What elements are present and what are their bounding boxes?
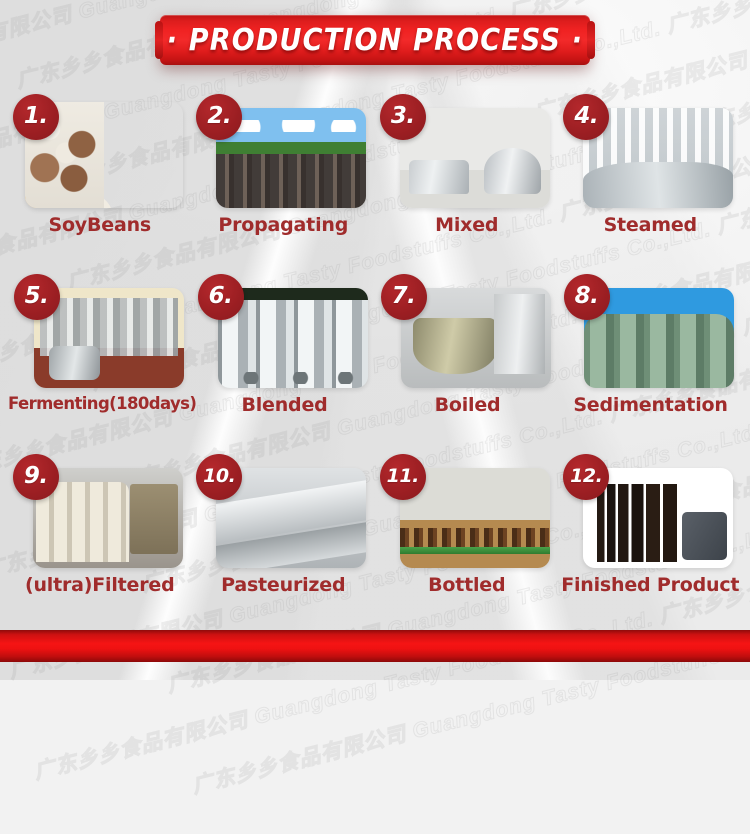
process-step-card[interactable]: 9. (ultra)Filtered [8,444,192,624]
step-number-text: 9. [24,463,48,489]
step-photo-wrap: 1. [17,96,183,208]
step-label: Blended [193,394,376,416]
step-photo-wrap: 6. [202,276,368,388]
process-step-card[interactable]: 12. Finished Product [559,444,743,624]
process-step-card[interactable]: 10. Pasteurized [192,444,376,624]
process-step-card[interactable]: 2. Propagating [192,84,376,264]
process-step-card[interactable]: 6. Blended [193,264,376,444]
step-number-text: 8. [575,283,599,309]
step-label: (ultra)Filtered [8,574,192,596]
step-number-text: 1. [24,103,48,129]
step-number-badge: 12. [563,454,609,500]
step-photo-wrap: 11. [384,456,550,568]
step-number-text: 2. [207,103,231,129]
step-number-text: 6. [209,283,233,309]
step-number-badge: 11. [380,454,426,500]
page-title: · PRODUCTION PROCESS · [167,23,584,58]
process-row-3: 9. (ultra)Filtered 10. Pasteurized [8,444,742,624]
step-photo-wrap: 4. [567,96,733,208]
production-process-banner: · PRODUCTION PROCESS · [160,15,590,65]
step-number-text: 12. [570,465,602,487]
step-photo-wrap: 2. [200,96,366,208]
step-label: Steamed [559,214,743,236]
step-number-badge: 6. [198,274,244,320]
step-label: Bottled [375,574,559,596]
bottom-red-stripe [0,630,750,662]
step-number-badge: 8. [564,274,610,320]
process-row-1: 1. SoyBeans 2. Propagating [8,84,742,264]
step-photo-wrap: 10. [200,456,366,568]
step-photo-wrap: 5. [18,276,184,388]
step-number-badge: 10. [196,454,242,500]
process-step-card[interactable]: 4. Steamed [559,84,743,264]
step-label: Pasteurized [192,574,376,596]
step-number-text: 10. [203,465,235,487]
step-label: Finished Product [559,574,743,596]
step-label: Mixed [375,214,559,236]
process-row-2: 5. Fermenting(180days) 6. Blended [8,264,742,444]
process-step-card[interactable]: 11. Bottled [375,444,559,624]
process-step-card[interactable]: 1. SoyBeans [8,84,192,264]
step-number-badge: 9. [13,454,59,500]
step-photo-wrap: 9. [17,456,183,568]
step-number-badge: 1. [13,94,59,140]
process-step-card[interactable]: 7. Boiled [376,264,559,444]
step-photo-wrap: 3. [384,96,550,208]
step-number-badge: 3. [380,94,426,140]
step-number-text: 7. [392,283,416,309]
step-number-badge: 2. [196,94,242,140]
step-number-badge: 5. [14,274,60,320]
step-number-text: 11. [387,465,419,487]
step-number-badge: 4. [563,94,609,140]
process-step-card[interactable]: 3. Mixed [375,84,559,264]
header-section: · PRODUCTION PROCESS · [0,0,750,80]
step-label: Boiled [376,394,559,416]
step-number-text: 3. [391,103,415,129]
step-photo-wrap: 8. [568,276,734,388]
process-step-card[interactable]: 5. Fermenting(180days) [8,264,193,444]
step-label: Sedimentation [559,394,742,416]
step-photo-wrap: 12. [567,456,733,568]
process-steps-grid: 1. SoyBeans 2. Propagating [0,80,750,624]
step-number-text: 4. [574,103,598,129]
step-label: Propagating [192,214,376,236]
step-photo-wrap: 7. [385,276,551,388]
step-number-text: 5. [25,283,49,309]
step-label: SoyBeans [8,214,192,236]
step-label: Fermenting(180days) [8,394,193,413]
step-number-badge: 7. [381,274,427,320]
process-step-card[interactable]: 8. Sedimentation [559,264,742,444]
